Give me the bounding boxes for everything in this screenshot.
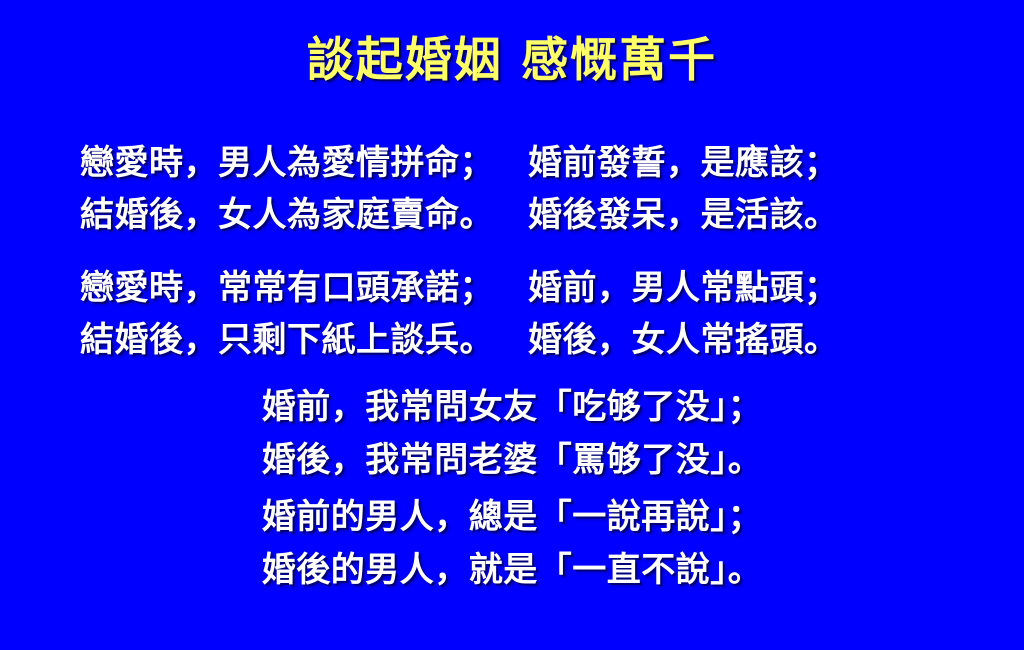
text-line: 結婚後，女人為家庭賣命。	[80, 190, 510, 242]
text-line: 戀愛時，男人為愛情拼命；	[80, 138, 510, 190]
text-line: 戀愛時，常常有口頭承諾；	[80, 263, 510, 315]
text-line: 婚前的男人，總是「一說再說」；	[0, 491, 1024, 544]
couplet-left-column: 戀愛時，常常有口頭承諾； 結婚後，只剩下紙上談兵。	[0, 263, 510, 366]
text-line: 婚前發誓，是應該；	[528, 138, 980, 190]
text-line: 婚後，我常問老婆「罵够了没」。	[0, 434, 1024, 487]
text-line: 婚前，男人常點頭；	[528, 263, 980, 315]
page-title: 談起婚姻 感慨萬千	[0, 36, 1024, 87]
center-block: 婚前的男人，總是「一說再說」； 婚後的男人，就是「一直不說」。	[0, 491, 1024, 596]
text-line: 婚後，女人常搖頭。	[528, 315, 980, 367]
text-line: 婚後的男人，就是「一直不說」。	[0, 544, 1024, 597]
couplet-right-column: 婚前發誓，是應該； 婚後發呆，是活該。	[510, 138, 980, 241]
center-block: 婚前，我常問女友「吃够了没」； 婚後，我常問老婆「罵够了没」。	[0, 381, 1024, 486]
couplet-left-column: 戀愛時，男人為愛情拼命； 結婚後，女人為家庭賣命。	[0, 138, 510, 241]
slide-canvas: 談起婚姻 感慨萬千 戀愛時，男人為愛情拼命； 結婚後，女人為家庭賣命。 婚前發誓…	[0, 0, 1024, 650]
text-line: 婚前，我常問女友「吃够了没」；	[0, 381, 1024, 434]
text-line: 結婚後，只剩下紙上談兵。	[80, 315, 510, 367]
couplet-grid: 戀愛時，男人為愛情拼命； 結婚後，女人為家庭賣命。 婚前發誓，是應該； 婚後發呆…	[0, 138, 1024, 367]
couplet-right-column: 婚前，男人常點頭； 婚後，女人常搖頭。	[510, 263, 980, 366]
couplet-row: 戀愛時，男人為愛情拼命； 結婚後，女人為家庭賣命。 婚前發誓，是應該； 婚後發呆…	[0, 138, 1024, 241]
text-line: 婚後發呆，是活該。	[528, 190, 980, 242]
couplet-row: 戀愛時，常常有口頭承諾； 結婚後，只剩下紙上談兵。 婚前，男人常點頭； 婚後，女…	[0, 263, 1024, 366]
